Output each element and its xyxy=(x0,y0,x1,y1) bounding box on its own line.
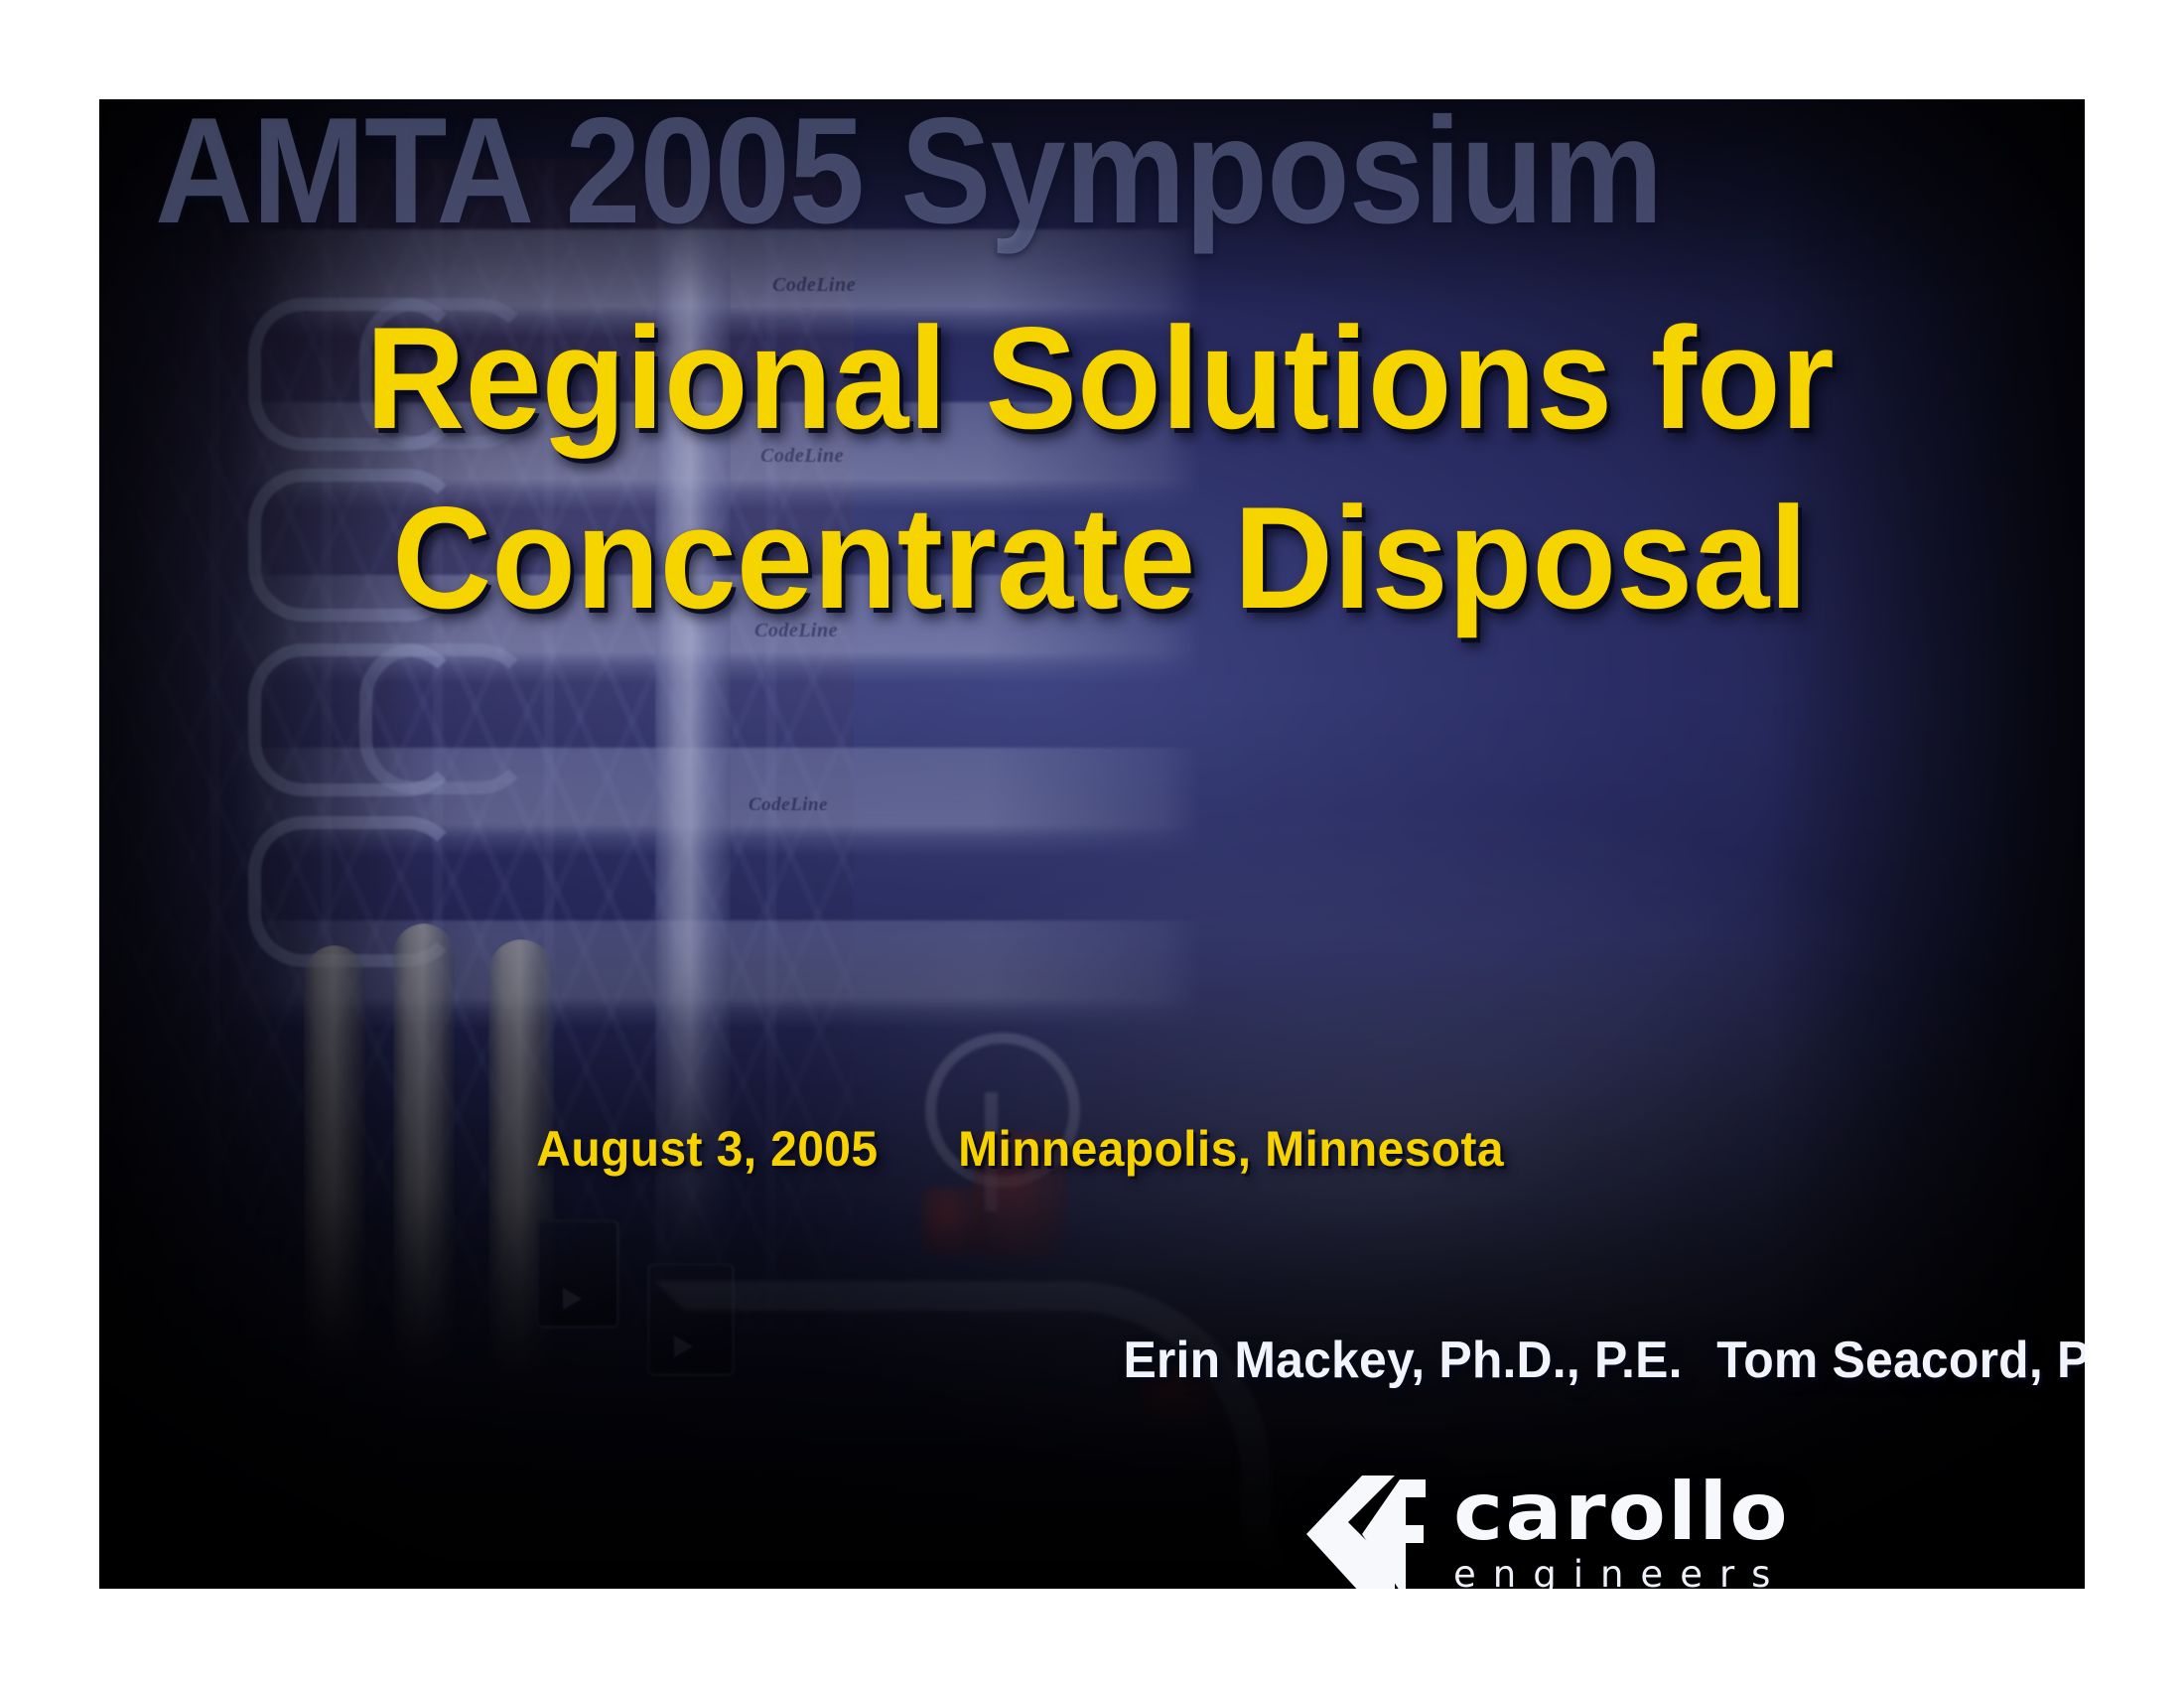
presentation-date: August 3, 2005 xyxy=(536,1120,878,1178)
symposium-watermark-heading: AMTA 2005 Symposium xyxy=(155,99,1879,246)
engineers-tagline: engineers xyxy=(1453,1556,1787,1589)
carollo-wordmark-block: carollo engineers xyxy=(1453,1476,1787,1589)
author-1: Erin Mackey, Ph.D., P.E. xyxy=(1123,1331,1682,1390)
carollo-wordmark: carollo xyxy=(1453,1476,1808,1549)
presentation-slide: CodeLine CodeLine CodeLine CodeLine Code… xyxy=(99,99,2085,1589)
title-line-2: Concentrate Disposal xyxy=(205,468,1996,647)
date-location-row: August 3, 2005 Minneapolis, Minnesota xyxy=(536,1120,1504,1178)
slide-title: Regional Solutions for Concentrate Dispo… xyxy=(157,288,2043,647)
carollo-engineers-logo: carollo engineers xyxy=(1300,1470,1936,1589)
authors-row: Erin Mackey, Ph.D., P.E. Tom Seacord, P.… xyxy=(1123,1331,2085,1390)
double-chevron-left-icon xyxy=(1300,1474,1428,1589)
author-2: Tom Seacord, P.E. xyxy=(1716,1331,2085,1390)
presentation-location: Minneapolis, Minnesota xyxy=(958,1120,1504,1178)
title-line-1: Regional Solutions for xyxy=(205,288,1996,468)
